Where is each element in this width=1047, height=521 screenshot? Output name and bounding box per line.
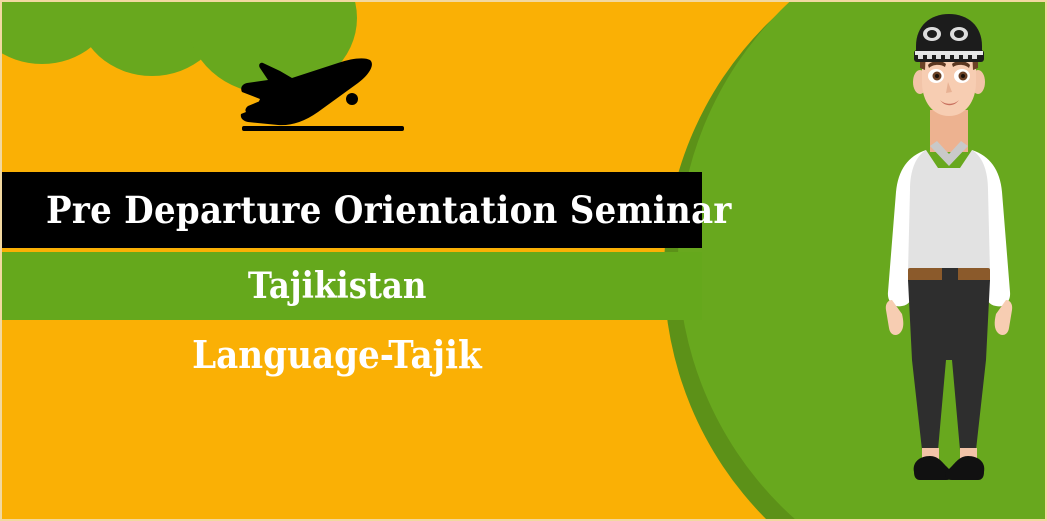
country-band: Tajikistan [2,252,702,320]
presentation-slide: Pre Departure Orientation Seminar Tajiki… [0,0,1047,521]
page-title: Pre Departure Orientation Seminar [46,188,732,232]
language-band: Language-Tajik [2,320,702,388]
country-name: Tajikistan [248,265,427,307]
title-band: Pre Departure Orientation Seminar [2,172,702,248]
runway-line [242,126,404,131]
cloud-circle-2 [77,0,227,76]
tajik-man-illustration [864,10,1034,495]
airplane-takeoff-icon [234,54,414,136]
cloud-circle-1 [0,0,112,64]
language-name: Language-Tajik [192,332,482,377]
